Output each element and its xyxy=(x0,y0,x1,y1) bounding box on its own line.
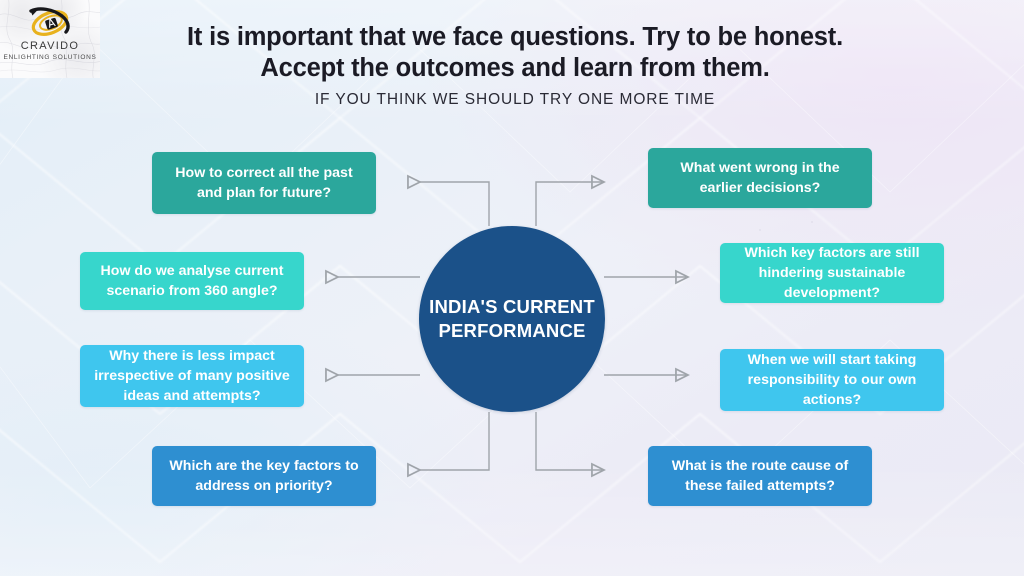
hub-label: INDIA'S CURRENT PERFORMANCE xyxy=(427,295,597,343)
hub-circle: INDIA'S CURRENT PERFORMANCE xyxy=(419,226,605,412)
connector-top-right xyxy=(536,182,604,226)
question-box-left-1[interactable]: How to correct all the past and plan for… xyxy=(152,152,376,214)
hub-label-line1: INDIA'S CURRENT xyxy=(427,295,597,319)
slide-canvas: CRAVIDO ENLIGHTING SOLUTIONS It is impor… xyxy=(0,0,1024,576)
question-box-right-1[interactable]: What went wrong in the earlier decisions… xyxy=(648,148,872,208)
connector-top-left xyxy=(420,182,489,226)
question-box-left-4[interactable]: Which are the key factors to address on … xyxy=(152,446,376,506)
connector-bottom-left xyxy=(420,412,489,470)
question-box-right-4[interactable]: What is the route cause of these failed … xyxy=(648,446,872,506)
question-box-right-2[interactable]: Which key factors are still hindering su… xyxy=(720,243,944,303)
question-box-left-3[interactable]: Why there is less impact irrespective of… xyxy=(80,345,304,407)
question-box-left-2[interactable]: How do we analyse current scenario from … xyxy=(80,252,304,310)
connector-bottom-right xyxy=(536,412,604,470)
question-box-right-3[interactable]: When we will start taking responsibility… xyxy=(720,349,944,411)
hub-label-line2: PERFORMANCE xyxy=(427,319,597,343)
